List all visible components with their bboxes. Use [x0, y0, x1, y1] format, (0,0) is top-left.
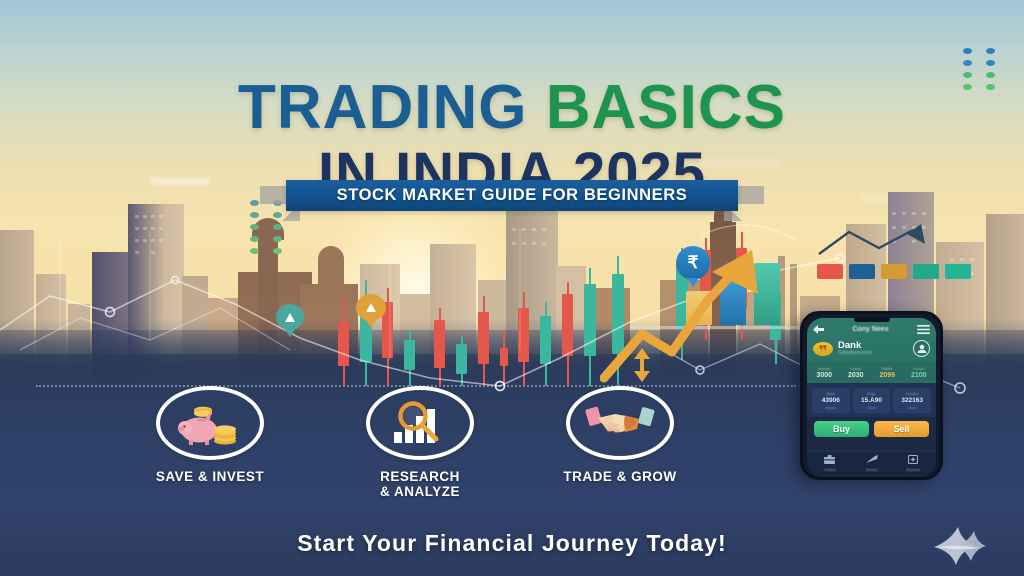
handshake-icon	[585, 402, 655, 444]
account-text: Dank Gdkubwonsoo	[838, 341, 872, 357]
nav-item-stocks[interactable]: Stocks	[851, 455, 893, 472]
tagline: Start Your Financial Journey Today!	[0, 530, 1024, 557]
app-topbar: Cony Nees	[813, 325, 930, 334]
metric-key: Fucsee	[894, 391, 930, 396]
triangle-pin-gold	[356, 294, 386, 321]
poster-canvas: ₹ TRADING BASICS	[0, 0, 1024, 576]
account-subtitle: Gdkubwonsoo	[838, 350, 872, 356]
metric-value: 43906	[813, 397, 849, 404]
up-down-arrow-icon	[630, 348, 654, 382]
nav-item-orders[interactable]: Orders	[809, 455, 851, 472]
step-3-circle	[566, 386, 674, 460]
ribbon-bar: STOCK MARKET GUIDE FOR BEGINNERS	[286, 180, 738, 211]
bottom-nav: Orders Stocks	[807, 451, 936, 477]
title-space	[527, 73, 545, 142]
nav-label: Stocks	[851, 467, 893, 472]
nav-item-reports[interactable]: Reports	[892, 455, 934, 472]
sell-button[interactable]: Sell	[874, 421, 929, 437]
app-header: Cony Nees ₹₹ Dank Gdkubwonsoo	[807, 318, 936, 362]
stat-cell: Foens 2030	[841, 366, 872, 379]
stats-row: Monee 3000 Foens 2030 Ratbb 2099 Funch 2…	[807, 362, 936, 383]
step-1-label: SAVE & INVEST	[150, 469, 270, 484]
step-3-label: TRADE & GROW	[560, 469, 680, 484]
rupee-location-pin: ₹	[676, 246, 710, 280]
stat-value: 2099	[872, 372, 903, 379]
sparkle-logo-icon	[928, 523, 990, 569]
hamburger-menu-icon[interactable]	[917, 325, 930, 334]
stat-key: Foens	[841, 366, 872, 371]
add-box-glyph	[908, 455, 918, 464]
page-title-line1: TRADING BASICS	[0, 78, 1024, 138]
mini-line-chart	[815, 222, 955, 263]
step-2-circle	[366, 386, 474, 460]
legend-swatch	[817, 264, 843, 279]
stat-key: Ratbb	[872, 366, 903, 371]
app-header-title: Cony Nees	[852, 326, 888, 333]
step-2-label: RESEARCH & ANALYZE	[360, 469, 480, 499]
chart-arrow-glyph	[866, 455, 878, 464]
nav-label: Reports	[892, 467, 934, 472]
back-arrow-icon[interactable]	[813, 325, 824, 334]
legend-swatch	[849, 264, 875, 279]
metric-value: 15.A90	[854, 397, 890, 404]
action-buttons: Buy Sell	[807, 417, 936, 442]
account-name: Dank	[838, 341, 872, 351]
trading-app-screen: Cony Nees ₹₹ Dank Gdkubwonsoo	[807, 318, 936, 477]
phone-notch	[854, 317, 890, 322]
metric-sub: Acoss	[813, 405, 849, 410]
briefcase-icon	[809, 455, 851, 466]
triangle-pin-teal	[276, 304, 304, 330]
legend-swatch	[913, 264, 939, 279]
metric-cell[interactable]: Mion 43906 Acoss	[812, 388, 850, 413]
phone-mockup[interactable]: Cony Nees ₹₹ Dank Gdkubwonsoo	[800, 311, 943, 480]
metric-cell[interactable]: Drgo 15.A90 Scoe	[853, 388, 891, 413]
metric-key: Drgo	[854, 391, 890, 396]
stat-value: 2100	[904, 372, 935, 379]
avatar-glyph	[917, 344, 927, 353]
step-save-invest[interactable]: SAVE & INVEST	[150, 386, 270, 484]
briefcase-glyph	[824, 455, 835, 464]
nav-label: Orders	[809, 467, 851, 472]
metric-cell[interactable]: Fucsee 322163 Usoe	[893, 388, 931, 413]
piggy-bank-icon	[177, 400, 243, 446]
metric-sub: Usoe	[894, 405, 930, 410]
legend-swatch	[945, 264, 971, 279]
mini-line-path	[815, 222, 955, 258]
buy-button[interactable]: Buy	[814, 421, 869, 437]
stat-key: Monee	[809, 366, 840, 371]
title-word-trading: TRADING	[238, 73, 527, 142]
subtitle-ribbon: STOCK MARKET GUIDE FOR BEGINNERS	[0, 180, 1024, 214]
user-avatar-icon[interactable]	[913, 340, 930, 357]
step-trade-grow[interactable]: TRADE & GROW	[560, 386, 680, 484]
stat-key: Funch	[904, 366, 935, 371]
account-row: ₹₹ Dank Gdkubwonsoo	[813, 340, 930, 357]
ribbon-label: STOCK MARKET GUIDE FOR BEGINNERS	[337, 186, 688, 205]
metric-value: 322163	[894, 397, 930, 404]
metrics-grid: Mion 43906 Acoss Drgo 15.A90 Scoe Fucsee…	[807, 383, 936, 417]
coin-badge-icon: ₹₹	[813, 342, 833, 356]
stat-cell: Funch 2100	[904, 366, 935, 379]
stat-cell: Ratbb 2099	[872, 366, 903, 379]
rupee-symbol: ₹	[688, 253, 699, 273]
triangle-glyph	[365, 302, 377, 313]
stat-cell: Monee 3000	[809, 366, 840, 379]
add-box-icon	[892, 455, 934, 466]
step-research-analyze[interactable]: RESEARCH & ANALYZE	[360, 386, 480, 499]
magnifier-chart-icon	[390, 399, 450, 447]
chart-arrow-icon	[851, 455, 893, 466]
stat-value: 2030	[841, 372, 872, 379]
coin-badge-label: ₹₹	[819, 345, 827, 352]
triangle-glyph	[284, 312, 296, 323]
step-1-circle	[156, 386, 264, 460]
metric-key: Mion	[813, 391, 849, 396]
metric-sub: Scoe	[854, 405, 890, 410]
legend-swatch	[881, 264, 907, 279]
title-word-basics: BASICS	[546, 73, 786, 142]
stat-value: 3000	[809, 372, 840, 379]
